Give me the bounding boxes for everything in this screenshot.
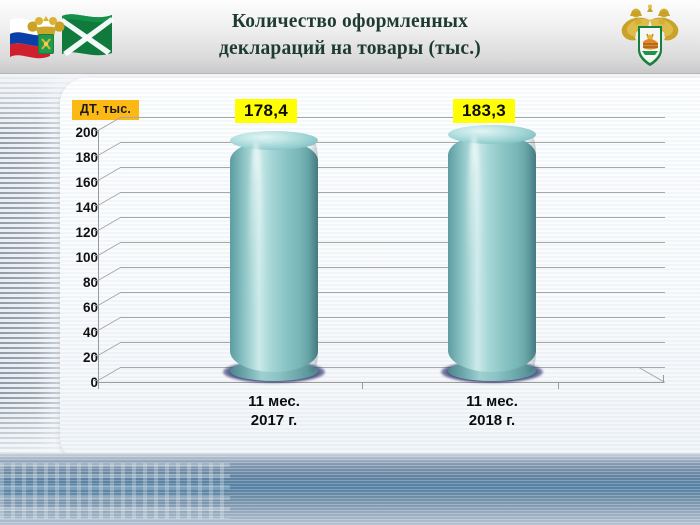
gridline	[120, 292, 665, 293]
bar-top-ellipse	[230, 131, 318, 150]
gridline	[120, 317, 665, 318]
grid-depth-line	[98, 317, 121, 331]
grid-depth-line	[98, 192, 121, 206]
gridline	[120, 217, 665, 218]
x-axis-tick	[362, 382, 363, 389]
bar-chart: ДТ, тыс. 200 180 160 140 120 100 80 60 4…	[0, 78, 700, 463]
x-category-label-2018-line1: 11 мес.	[432, 392, 552, 411]
page-title: Количество оформленных деклараций на тов…	[130, 8, 570, 62]
y-tick-label: 60	[52, 301, 98, 314]
grid-depth-line	[98, 142, 121, 156]
gridline	[120, 167, 665, 168]
y-tick-label: 0	[52, 376, 98, 389]
slide-header: Количество оформленных деклараций на тов…	[0, 0, 700, 74]
gridline	[120, 267, 665, 268]
grid-depth-line	[98, 342, 121, 356]
y-tick-label: 180	[52, 151, 98, 164]
grid-depth-line	[98, 117, 121, 131]
bar-top-ellipse	[448, 125, 536, 144]
gridline	[120, 242, 665, 243]
data-label-2017: 178,4	[235, 99, 297, 123]
y-tick-label: 200	[52, 126, 98, 139]
y-tick-label: 120	[52, 226, 98, 239]
y-tick-label: 40	[52, 326, 98, 339]
grid-depth-line	[98, 367, 121, 381]
y-tick-label: 160	[52, 176, 98, 189]
gridline	[120, 117, 665, 118]
x-axis-tick	[98, 382, 99, 389]
bottom-band-dot-pattern	[0, 463, 230, 519]
bar-body	[230, 140, 318, 372]
y-tick-label: 20	[52, 351, 98, 364]
bar-right-shading	[525, 134, 536, 372]
y-axis-tick-labels: 200 180 160 140 120 100 80 60 40 20 0	[46, 78, 98, 463]
grid-depth-line	[98, 167, 121, 181]
floor-right-edge	[639, 367, 665, 383]
plot-area: 178,4 183,3 11 мес. 2017 г. 11 мес. 2018…	[98, 78, 678, 463]
y-tick-label: 80	[52, 276, 98, 289]
x-axis-line	[98, 382, 663, 383]
customs-service-coat-of-arms-icon	[614, 4, 686, 72]
grid-depth-line	[98, 267, 121, 281]
bar-cylinder-2017	[230, 140, 318, 372]
x-axis-tick	[558, 382, 559, 389]
y-axis-line	[98, 130, 99, 382]
grid-depth-line	[98, 292, 121, 306]
gridline	[120, 192, 665, 193]
russian-flag-and-customs-emblem-icon	[6, 6, 118, 68]
x-axis-tick	[663, 375, 664, 383]
slide-root: Количество оформленных деклараций на тов…	[0, 0, 700, 525]
x-category-label-2018: 11 мес. 2018 г.	[432, 392, 552, 430]
grid-depth-line	[98, 242, 121, 256]
x-category-label-2018-line2: 2018 г.	[432, 411, 552, 430]
gridline	[120, 142, 665, 143]
x-category-label-2017-line2: 2017 г.	[214, 411, 334, 430]
bar-right-shading	[307, 140, 318, 372]
page-title-line-1: Количество оформленных	[130, 8, 570, 35]
grid-depth-line	[98, 217, 121, 231]
bar-body	[448, 134, 536, 372]
floor-back-edge	[120, 367, 665, 368]
y-tick-label: 140	[52, 201, 98, 214]
x-category-label-2017: 11 мес. 2017 г.	[214, 392, 334, 430]
bar-cylinder-2018	[448, 134, 536, 372]
y-tick-label: 100	[52, 251, 98, 264]
page-title-line-2: деклараций на товары (тыс.)	[130, 35, 570, 62]
data-label-2018: 183,3	[453, 99, 515, 123]
x-category-label-2017-line1: 11 мес.	[214, 392, 334, 411]
gridline	[120, 342, 665, 343]
